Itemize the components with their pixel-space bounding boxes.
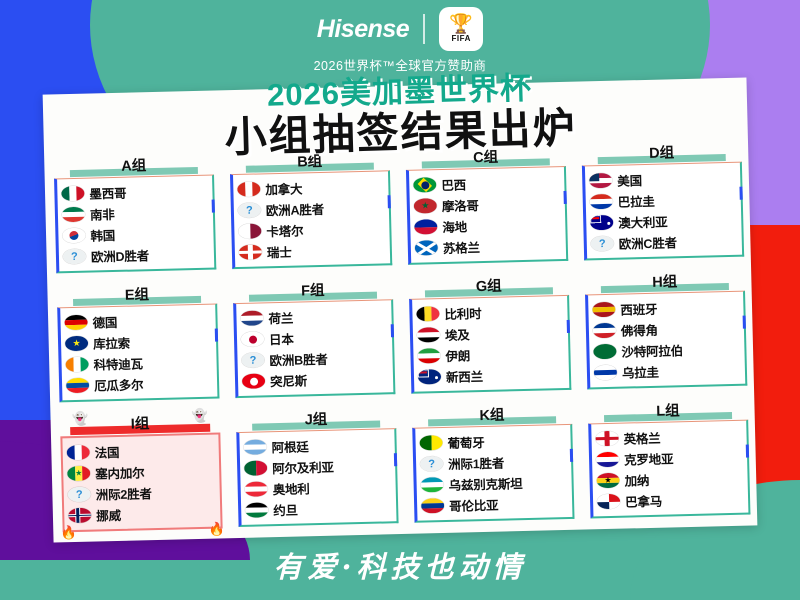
footer-slogan: 有爱·科技也动情 [0, 544, 800, 586]
group-name: E组 [119, 283, 156, 305]
brand-row: Hisense 🏆 FIFA [0, 6, 800, 52]
panama-flag [597, 494, 620, 510]
group-card: L组 英格兰 克罗地亚 ★ 加纳 巴拿马 [582, 397, 757, 519]
team-name: 乌拉圭 [622, 362, 659, 382]
group-name: G组 [470, 274, 508, 296]
team-row: 约旦 [245, 496, 391, 521]
colombia-flag [421, 498, 444, 514]
fire-icon: 🔥 [61, 525, 78, 541]
iran-flag [417, 348, 440, 364]
team-name: 苏格兰 [443, 237, 480, 257]
team-name: 瑞士 [267, 242, 292, 262]
team-name: 南非 [90, 204, 115, 224]
team-row: 苏格兰 [415, 234, 561, 259]
group-card: J组 阿根廷 阿尔及利亚 奥地利 约旦 [230, 406, 405, 528]
logo-divider [423, 14, 425, 44]
group-team-list: 加拿大 ? 欧洲A胜者 卡塔尔 瑞士 [230, 170, 392, 269]
fifa-label: FIFA [452, 34, 471, 43]
team-name: 韩国 [90, 225, 115, 245]
team-name: 乌兹别克斯坦 [448, 473, 522, 494]
group-card: K组 葡萄牙 ? 洲际1胜者 乌兹别克斯坦 哥伦比亚 [406, 402, 581, 524]
group-name: K组 [473, 403, 510, 425]
team-name: 沙特阿拉伯 [621, 340, 683, 360]
team-name: 英格兰 [623, 428, 660, 448]
group-team-list: 法国 ★ 塞内加尔 ? 洲际2胜者 挪威 [60, 432, 222, 532]
team-name: 阿根廷 [271, 436, 308, 456]
team-name: 荷兰 [268, 308, 293, 328]
group-team-list: 美国 巴拉圭 澳大利亚 ? 欧洲C胜者 [582, 162, 744, 261]
curacao-flag: ★ [65, 336, 88, 352]
unknown-team-icon: ? [241, 352, 264, 368]
team-name: 阿尔及利亚 [272, 457, 334, 477]
panda-face-icon: 👻 [192, 408, 209, 424]
netherlands-flag [240, 310, 263, 326]
group-card: B组 加拿大 ? 欧洲A胜者 卡塔尔 瑞士 [223, 148, 398, 269]
team-name: 巴拉圭 [618, 191, 655, 211]
portugal-flag [419, 435, 442, 451]
groups-grid: A组 墨西哥 南非 韩国 ? 欧洲D胜者 B组 [48, 140, 757, 533]
algeria-flag [244, 460, 267, 476]
mexico-flag [61, 186, 84, 202]
japan-flag [241, 331, 264, 347]
team-row: 乌拉圭 [594, 359, 740, 384]
group-team-list: 巴西 ★ 摩洛哥 海地 苏格兰 [406, 166, 568, 265]
group-card: C组 巴西 ★ 摩洛哥 海地 苏格兰 [399, 144, 574, 265]
group-team-list: 比利时 埃及 伊朗 新西兰 [409, 295, 571, 394]
norway-flag [68, 508, 91, 524]
unknown-team-icon: ? [591, 236, 614, 252]
team-name: 加纳 [624, 470, 649, 490]
fifa-badge: 🏆 FIFA [439, 7, 483, 51]
team-name: 洲际1胜者 [448, 453, 504, 473]
panda-face-icon: 👻 [72, 411, 89, 427]
south-africa-flag [62, 207, 85, 223]
team-name: 加拿大 [265, 178, 302, 198]
cape-verde-flag [593, 323, 616, 339]
new-zealand-flag [418, 369, 441, 385]
team-row: 厄瓜多尔 [66, 372, 212, 397]
team-name: 欧洲A胜者 [266, 199, 324, 219]
team-name: 比利时 [444, 303, 481, 323]
unknown-team-icon: ? [238, 202, 261, 218]
argentina-flag [243, 439, 266, 455]
team-name: 新西兰 [446, 366, 483, 386]
group-name: I组 [125, 412, 156, 434]
team-name: 巴西 [441, 174, 466, 194]
team-name: 洲际2胜者 [96, 483, 152, 503]
morocco-flag: ★ [414, 198, 437, 214]
unknown-team-icon: ? [420, 456, 443, 472]
unknown-team-icon: ? [68, 487, 91, 503]
tunisia-flag [242, 373, 265, 389]
group-name: F组 [295, 279, 331, 301]
team-row: 哥伦比亚 [421, 492, 567, 517]
team-name: 法国 [95, 442, 120, 462]
team-name: 德国 [92, 312, 117, 332]
group-team-list: 西班牙 佛得角 沙特阿拉伯 乌拉圭 [585, 291, 747, 390]
team-name: 巴拿马 [625, 491, 662, 511]
team-name: 葡萄牙 [447, 432, 484, 452]
croatia-flag [596, 452, 619, 468]
team-name: 奥地利 [272, 478, 309, 498]
group-team-list: 德国 ★ 库拉索 科特迪瓦 厄瓜多尔 [57, 304, 219, 403]
qatar-flag [238, 223, 261, 239]
team-name: 欧洲C胜者 [619, 232, 677, 252]
team-name: 厄瓜多尔 [94, 374, 144, 394]
france-flag [67, 445, 90, 461]
senegal-flag: ★ [67, 466, 90, 482]
saudi-arabia-flag [593, 344, 616, 360]
team-row: ? 欧洲C胜者 [591, 230, 737, 255]
team-name: 伊朗 [445, 345, 470, 365]
team-name: 佛得角 [621, 320, 658, 340]
australia-flag [590, 215, 613, 231]
team-name: 科特迪瓦 [93, 353, 143, 373]
team-name: 日本 [269, 329, 294, 349]
team-name: 欧洲B胜者 [269, 349, 327, 369]
group-card: A组 墨西哥 南非 韩国 ? 欧洲D胜者 [48, 152, 223, 273]
group-team-list: 英格兰 克罗地亚 ★ 加纳 巴拿马 [588, 420, 750, 519]
ivory-coast-flag [65, 357, 88, 373]
team-name: 摩洛哥 [442, 195, 479, 215]
team-name: 突尼斯 [270, 370, 307, 390]
ecuador-flag [66, 378, 89, 394]
group-card: D组 美国 巴拉圭 澳大利亚 ? 欧洲C胜者 [575, 140, 750, 261]
team-name: 海地 [442, 216, 467, 236]
team-name: 墨西哥 [89, 183, 126, 203]
world-cup-trophy-icon: 🏆 [449, 15, 473, 34]
scotland-flag [415, 240, 438, 256]
canada-flag [237, 181, 260, 197]
south-korea-flag [62, 228, 85, 244]
unknown-team-icon: ? [63, 249, 86, 265]
fire-icon: 🔥 [208, 521, 225, 537]
group-card: 👻 👻 I组 法国 ★ 塞内加尔 ? 洲际2胜者 挪威 [54, 410, 229, 532]
group-team-list: 荷兰 日本 ? 欧洲B胜者 突尼斯 [233, 299, 395, 398]
jordan-flag [245, 502, 268, 518]
group-card: F组 荷兰 日本 ? 欧洲B胜者 突尼斯 [227, 277, 402, 398]
ghana-flag: ★ [596, 473, 619, 489]
team-name: 约旦 [273, 500, 298, 520]
group-team-list: 墨西哥 南非 韩国 ? 欧洲D胜者 [54, 175, 216, 274]
team-name: 挪威 [96, 505, 121, 525]
group-name: H组 [646, 270, 683, 292]
team-name: 澳大利亚 [618, 211, 668, 231]
egypt-flag [417, 327, 440, 343]
brazil-flag [413, 177, 436, 193]
title-year: 2026 [267, 76, 341, 114]
austria-flag [245, 481, 268, 497]
team-row: 挪威 [68, 502, 215, 527]
haiti-flag [414, 219, 437, 235]
belgium-flag [416, 306, 439, 322]
team-row: 突尼斯 [242, 367, 388, 392]
team-name: 欧洲D胜者 [91, 245, 149, 265]
paraguay-flag [590, 194, 613, 210]
group-name: J组 [298, 408, 333, 430]
uzbekistan-flag [420, 477, 443, 493]
team-name: 西班牙 [620, 299, 657, 319]
team-row: 瑞士 [239, 238, 385, 263]
group-card: H组 西班牙 佛得角 沙特阿拉伯 乌拉圭 [579, 268, 754, 389]
group-card: E组 德国 ★ 库拉索 科特迪瓦 厄瓜多尔 [51, 281, 226, 402]
spain-flag [592, 302, 615, 318]
team-row: ? 欧洲D胜者 [63, 243, 209, 268]
team-name: 美国 [617, 170, 642, 190]
team-row: 新西兰 [418, 363, 564, 388]
team-name: 塞内加尔 [95, 462, 145, 482]
uruguay-flag [594, 365, 617, 381]
team-name: 库拉索 [93, 333, 130, 353]
england-flag [595, 431, 618, 447]
switzerland-flag [239, 244, 262, 260]
team-name: 克罗地亚 [624, 448, 674, 468]
group-team-list: 葡萄牙 ? 洲际1胜者 乌兹别克斯坦 哥伦比亚 [412, 424, 574, 523]
group-card: G组 比利时 埃及 伊朗 新西兰 [403, 273, 578, 394]
team-name: 埃及 [445, 324, 470, 344]
hisense-logo: Hisense [317, 15, 409, 44]
germany-flag [64, 315, 87, 331]
team-name: 哥伦比亚 [449, 495, 499, 515]
team-name: 卡塔尔 [266, 220, 303, 240]
group-team-list: 阿根廷 阿尔及利亚 奥地利 约旦 [236, 428, 398, 527]
usa-flag [589, 173, 612, 189]
team-row: 巴拿马 [597, 488, 743, 513]
group-name: L组 [650, 399, 686, 421]
